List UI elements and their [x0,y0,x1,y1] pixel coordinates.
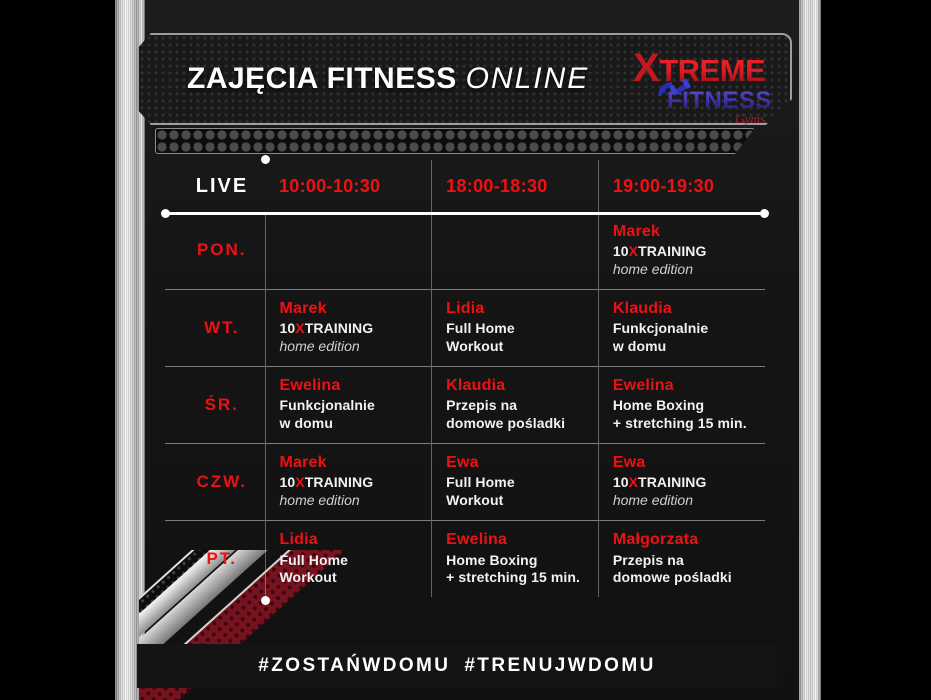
session-title-x-highlight: X [629,474,638,490]
xtreme-fitness-logo: XTREME FITNESS Gyms [633,48,779,124]
schedule-cell[interactable]: EwelinaHome Boxing+ stretching 15 min. [598,366,765,443]
schedule-table-head: LIVE 10:00-10:30 18:00-18:30 19:00-19:30 [165,160,765,212]
schedule-cell[interactable]: KlaudiaFunkcjonalniew domu [598,289,765,366]
footer-hashtags: #ZOSTAŃWDOMU#TRENUJWDOMU [258,655,655,677]
dumbbell-icon [657,78,697,108]
session-block: Marek10XTRAININGhome edition [280,299,432,356]
session-subtitle: home edition [280,492,432,510]
session-title-line-2: w domu [613,338,765,356]
schedule-header-row: LIVE 10:00-10:30 18:00-18:30 19:00-19:30 [165,160,765,212]
schedule-cell[interactable]: LidiaFull HomeWorkout [432,289,599,366]
session-block: Ewa10XTRAININGhome edition [613,453,765,510]
time-slot-header-3: 19:00-19:30 [598,160,765,212]
session-title-prefix: 10 [613,474,629,490]
session-title-line-2: w domu [280,415,432,433]
session-block: EwelinaHome Boxing+ stretching 15 min. [446,530,598,587]
session-title-prefix: 10 [280,474,296,490]
trainer-name: Ewelina [613,376,765,396]
schedule-cell[interactable]: Ewa10XTRAININGhome edition [598,443,765,520]
session-block: EwaFull HomeWorkout [446,453,598,510]
trainer-name: Marek [280,299,432,319]
schedule-cell[interactable]: EwelinaFunkcjonalniew domu [265,366,432,443]
time-slot-header-2: 18:00-18:30 [432,160,599,212]
session-title-line-1: Przepis na [446,397,598,415]
artboard: ZAJĘCIA FITNESS ONLINE XTREME FITNESS Gy… [115,0,821,700]
trainer-name: Lidia [280,530,432,550]
schedule-cell[interactable]: KlaudiaPrzepis nadomowe pośladki [432,366,599,443]
session-title: 10XTRAINING [613,474,765,492]
schedule-row: PON.Marek10XTRAININGhome edition [165,212,765,289]
session-title-line-1: Full Home [280,552,432,570]
session-block: LidiaFull HomeWorkout [446,299,598,356]
schedule-cell[interactable]: EwelinaHome Boxing+ stretching 15 min. [432,520,599,597]
session-title-line-1: Home Boxing [613,397,765,415]
session-block: Marek10XTRAININGhome edition [613,222,765,279]
session-title: 10XTRAINING [613,243,765,261]
column-divider-dot-bottom [261,596,270,605]
schedule-cell[interactable]: LidiaFull HomeWorkout [265,520,432,597]
page-title: ZAJĘCIA FITNESS ONLINE [187,62,589,96]
session-title-prefix: 10 [613,243,629,259]
trainer-name: Klaudia [446,376,598,396]
session-block: KlaudiaPrzepis nadomowe pośladki [446,376,598,433]
schedule-table-wrapper: LIVE 10:00-10:30 18:00-18:30 19:00-19:30… [165,160,765,600]
session-subtitle: home edition [613,492,765,510]
day-label: PT. [165,520,265,597]
trainer-name: Ewelina [446,530,598,550]
session-title-line-2: Workout [446,492,598,510]
session-subtitle: home edition [613,261,765,279]
session-title-line-1: Funkcjonalnie [613,320,765,338]
session-title-x-highlight: X [295,320,304,336]
schedule-row: ŚR.EwelinaFunkcjonalniew domuKlaudiaPrze… [165,366,765,443]
page-title-light: ONLINE [466,62,590,95]
session-block: EwelinaFunkcjonalniew domu [280,376,432,433]
schedule-row: CZW.Marek10XTRAININGhome editionEwaFull … [165,443,765,520]
schedule-cell[interactable]: Marek10XTRAININGhome edition [598,212,765,289]
session-block: EwelinaHome Boxing+ stretching 15 min. [613,376,765,433]
session-block: LidiaFull HomeWorkout [280,530,432,587]
session-title-prefix: 10 [280,320,296,336]
session-title-line-2: + stretching 15 min. [446,569,598,587]
schedule-row: PT.LidiaFull HomeWorkoutEwelinaHome Boxi… [165,520,765,597]
day-label: PON. [165,212,265,289]
schedule-cell[interactable]: Marek10XTRAININGhome edition [265,289,432,366]
separator-dot-left [161,209,170,218]
schedule-cell-empty [265,212,432,289]
session-title-line-1: Home Boxing [446,552,598,570]
schedule-cell[interactable]: Marek10XTRAININGhome edition [265,443,432,520]
trainer-name: Marek [280,453,432,473]
logo-letter-x: X [633,46,659,90]
session-title-suffix: TRAINING [638,243,706,259]
session-block: KlaudiaFunkcjonalniew domu [613,299,765,356]
session-block: Marek10XTRAININGhome edition [280,453,432,510]
live-label: LIVE [165,160,265,212]
page-title-bold: ZAJĘCIA FITNESS [187,62,457,95]
schedule-cell-empty [432,212,599,289]
trainer-name: Ewa [446,453,598,473]
header-separator-line [165,212,765,215]
trainer-name: Lidia [446,299,598,319]
session-title: 10XTRAINING [280,474,432,492]
schedule-cell[interactable]: EwaFull HomeWorkout [432,443,599,520]
day-label: ŚR. [165,366,265,443]
session-block: MałgorzataPrzepis nadomowe pośladki [613,530,765,587]
schedule-table: LIVE 10:00-10:30 18:00-18:30 19:00-19:30… [165,160,765,597]
session-title-line-2: Workout [446,338,598,356]
session-title-x-highlight: X [629,243,638,259]
session-title-line-1: Funkcjonalnie [280,397,432,415]
column-divider-dot-top [261,155,270,164]
trainer-name: Klaudia [613,299,765,319]
mesh-strip-decoration [155,128,755,154]
footer-bar: #ZOSTAŃWDOMU#TRENUJWDOMU [137,644,777,688]
session-title-line-1: Full Home [446,320,598,338]
session-title-line-1: Przepis na [613,552,765,570]
day-label: WT. [165,289,265,366]
session-title-suffix: TRAINING [638,474,706,490]
session-title-suffix: TRAINING [305,474,373,490]
hashtag-zostanwdomu: #ZOSTAŃWDOMU [258,655,450,676]
schedule-row: WT.Marek10XTRAININGhome editionLidiaFull… [165,289,765,366]
session-title-line-2: + stretching 15 min. [613,415,765,433]
session-title-line-2: domowe pośladki [446,415,598,433]
right-silver-bar-decoration [799,0,821,700]
trainer-name: Ewelina [280,376,432,396]
time-slot-header-1: 10:00-10:30 [265,160,432,212]
session-title-suffix: TRAINING [305,320,373,336]
day-label: CZW. [165,443,265,520]
schedule-cell[interactable]: MałgorzataPrzepis nadomowe pośladki [598,520,765,597]
poster-stage: ZAJĘCIA FITNESS ONLINE XTREME FITNESS Gy… [0,0,931,700]
session-title-line-2: Workout [280,569,432,587]
session-title-line-2: domowe pośladki [613,569,765,587]
session-title: 10XTRAINING [280,320,432,338]
session-title-x-highlight: X [295,474,304,490]
trainer-name: Ewa [613,453,765,473]
trainer-name: Małgorzata [613,530,765,550]
session-title-line-1: Full Home [446,474,598,492]
hashtag-trenujwdomu: #TRENUJWDOMU [464,655,655,676]
separator-dot-right [760,209,769,218]
trainer-name: Marek [613,222,765,242]
schedule-table-body: PON.Marek10XTRAININGhome editionWT.Marek… [165,212,765,597]
session-subtitle: home edition [280,338,432,356]
logo-wordmark-top: XTREME [633,48,779,88]
